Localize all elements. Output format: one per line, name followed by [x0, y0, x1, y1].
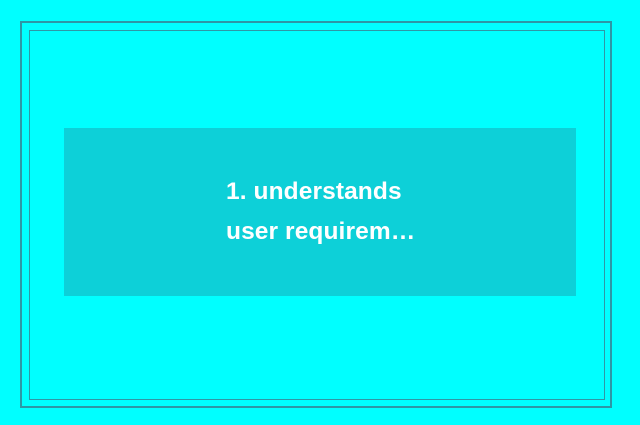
- panel-text-line-2: user requirem…: [226, 212, 576, 252]
- panel-text-line-1: 1. understands: [226, 172, 576, 212]
- slide-canvas: 1. understands user requirem…: [0, 0, 640, 425]
- content-panel[interactable]: 1. understands user requirem…: [64, 128, 576, 296]
- panel-text-block: 1. understands user requirem…: [226, 172, 576, 252]
